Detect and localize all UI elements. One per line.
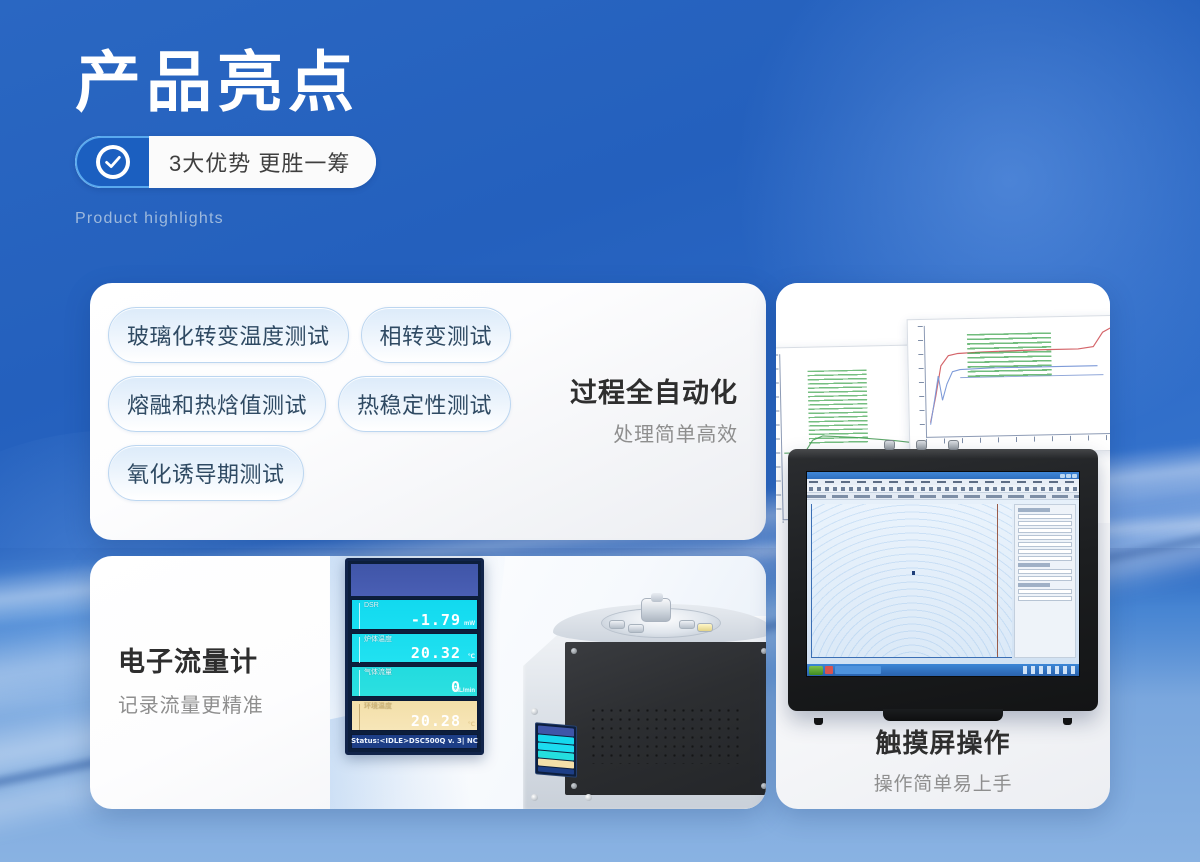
monitor-connector — [948, 440, 959, 450]
flowmeter-lcd-panel: DSR -1.79 mW 炉体温度 20.32 ℃ 气体流量 0 mL/min … — [345, 558, 484, 755]
taskbar-app-icon[interactable] — [825, 666, 833, 674]
lcd-row-gas-flow: 气体流量 0 mL/min — [351, 666, 478, 697]
lcd-row-unit: mL/min — [454, 688, 475, 694]
monitor-bezel-highlight — [788, 449, 1098, 459]
instrument-front-lcd — [535, 722, 577, 778]
software-body — [807, 500, 1079, 662]
page-subtitle-en: Product highlights — [75, 210, 376, 228]
touchscreen-subheading: 操作简单易上手 — [776, 769, 1110, 796]
lcd-row-label: DSR — [352, 600, 477, 610]
monitor-connector — [884, 440, 895, 450]
lcd-row-unit: ℃ — [468, 721, 475, 728]
instrument-panel-screw — [531, 708, 538, 715]
instrument-screw — [761, 648, 766, 654]
chart-legend-block — [808, 369, 868, 446]
lcd-row-label: 环境温度 — [352, 701, 477, 711]
instrument-port — [697, 623, 713, 632]
monitor-screen[interactable] — [806, 471, 1080, 677]
instrument-screw — [571, 648, 577, 654]
screen-moire-pattern — [812, 504, 1012, 657]
touchscreen-heading: 触摸屏操作 — [776, 723, 1110, 760]
flowmeter-subheading: 记录流量更精准 — [118, 689, 348, 718]
lcd-row-ambient-temp: 环境温度 20.28 ℃ — [351, 700, 478, 731]
card-features: 玻璃化转变温度测试 相转变测试 熔融和热焓值测试 热稳定性测试 氧化诱导期测试 … — [90, 283, 766, 540]
side-panel-field[interactable] — [1018, 549, 1072, 554]
badge-label: 3大优势 更胜一筹 — [149, 136, 376, 188]
chart-plot-area — [924, 322, 1110, 438]
highlights-badge: 3大优势 更胜一筹 — [75, 136, 376, 188]
instrument-panel-screw — [585, 794, 592, 801]
instrument-port — [679, 620, 695, 629]
side-panel-field[interactable] — [1018, 576, 1072, 581]
taskbar-window-button[interactable] — [835, 666, 881, 674]
lcd-header-band — [351, 564, 478, 596]
instrument-screw — [761, 783, 766, 789]
software-side-panel[interactable] — [1014, 504, 1076, 658]
side-panel-caption — [1018, 583, 1050, 587]
instrument-knob — [641, 598, 671, 622]
software-plot-area[interactable] — [811, 504, 1012, 658]
touchscreen-caption: 触摸屏操作 操作简单易上手 — [776, 723, 1110, 796]
feature-tag-list: 玻璃化转变温度测试 相转变测试 熔融和热焓值测试 热稳定性测试 氧化诱导期测试 — [108, 307, 560, 514]
features-caption: 过程全自动化 处理简单高效 — [538, 375, 738, 447]
touchscreen-monitor — [788, 449, 1098, 711]
lcd-row-divider — [359, 704, 360, 730]
lcd-row-value: -1.79 — [411, 612, 461, 628]
feature-tag-row: 玻璃化转变温度测试 相转变测试 — [108, 307, 560, 363]
lcd-row-dsr: DSR -1.79 mW — [351, 599, 478, 630]
window-minimize-icon[interactable] — [1060, 474, 1065, 478]
feature-tag[interactable]: 熔融和热焓值测试 — [108, 376, 326, 432]
feature-tag-row: 氧化诱导期测试 — [108, 445, 560, 501]
side-panel-field[interactable] — [1018, 535, 1072, 540]
lcd-row-divider — [359, 670, 360, 696]
instrument-port — [628, 624, 644, 633]
feature-tag-row: 熔融和热焓值测试 热稳定性测试 — [108, 376, 560, 432]
side-panel-field[interactable] — [1018, 589, 1072, 594]
chart-legend-block — [967, 332, 1052, 378]
lcd-row-furnace-temp: 炉体温度 20.32 ℃ — [351, 633, 478, 664]
side-panel-field[interactable] — [1018, 556, 1072, 561]
instrument-furnace-housing — [565, 642, 766, 795]
lcd-row-label: 气体流量 — [352, 667, 477, 677]
flowmeter-caption: 电子流量计 记录流量更精准 — [118, 640, 348, 718]
monitor-connector — [916, 440, 927, 450]
lcd-row-value: 20.28 — [411, 713, 461, 729]
check-circle-icon — [96, 145, 130, 179]
side-panel-caption — [1018, 508, 1050, 512]
system-tray-icons[interactable] — [1023, 666, 1077, 674]
lcd-row-unit: ℃ — [468, 653, 475, 660]
lcd-status-bar: Status:<IDLE>DSC500Q v. 3| NC — [351, 734, 478, 749]
feature-tag[interactable]: 玻璃化转变温度测试 — [108, 307, 349, 363]
feature-tag[interactable]: 氧化诱导期测试 — [108, 445, 304, 501]
window-close-icon[interactable] — [1072, 474, 1077, 478]
badge-icon-holder — [75, 136, 149, 188]
side-panel-field[interactable] — [1018, 521, 1072, 526]
page-header: 产品亮点 3大优势 更胜一筹 Product highlights — [75, 46, 376, 228]
dsc-instrument — [523, 598, 766, 809]
side-panel-field[interactable] — [1018, 569, 1072, 574]
software-tab-strip[interactable] — [807, 493, 1079, 500]
lcd-row-divider — [359, 603, 360, 629]
lcd-row-unit: mW — [464, 621, 475, 627]
flowmeter-heading: 电子流量计 — [118, 640, 348, 679]
lcd-row-value: 20.32 — [411, 645, 461, 661]
monitor-stand — [883, 709, 1003, 721]
window-maximize-icon[interactable] — [1066, 474, 1071, 478]
instrument-vent-grid — [589, 706, 741, 764]
card-touchscreen: 触摸屏操作 操作简单易上手 — [776, 283, 1110, 809]
start-button-icon[interactable] — [809, 666, 823, 675]
features-heading: 过程全自动化 — [538, 375, 738, 411]
side-panel-field[interactable] — [1018, 596, 1072, 601]
instrument-port — [609, 620, 625, 629]
side-panel-field[interactable] — [1018, 514, 1072, 519]
side-panel-field[interactable] — [1018, 542, 1072, 547]
chart-window-front — [907, 315, 1110, 455]
instrument-screw — [571, 783, 577, 789]
plot-right-axis — [997, 504, 998, 657]
software-toolbar[interactable] — [807, 485, 1079, 493]
feature-tag[interactable]: 热稳定性测试 — [338, 376, 511, 432]
features-subheading: 处理简单高效 — [538, 418, 738, 447]
side-panel-field[interactable] — [1018, 528, 1072, 533]
windows-taskbar[interactable] — [807, 664, 1079, 676]
lcd-row-divider — [359, 637, 360, 663]
page-title: 产品亮点 — [75, 46, 376, 120]
software-title-bar — [807, 472, 1079, 479]
instrument-panel-screw — [531, 794, 538, 801]
side-panel-caption — [1018, 563, 1050, 567]
plot-cursor-icon — [912, 571, 915, 575]
lcd-row-label: 炉体温度 — [352, 634, 477, 644]
feature-tag[interactable]: 相转变测试 — [361, 307, 512, 363]
